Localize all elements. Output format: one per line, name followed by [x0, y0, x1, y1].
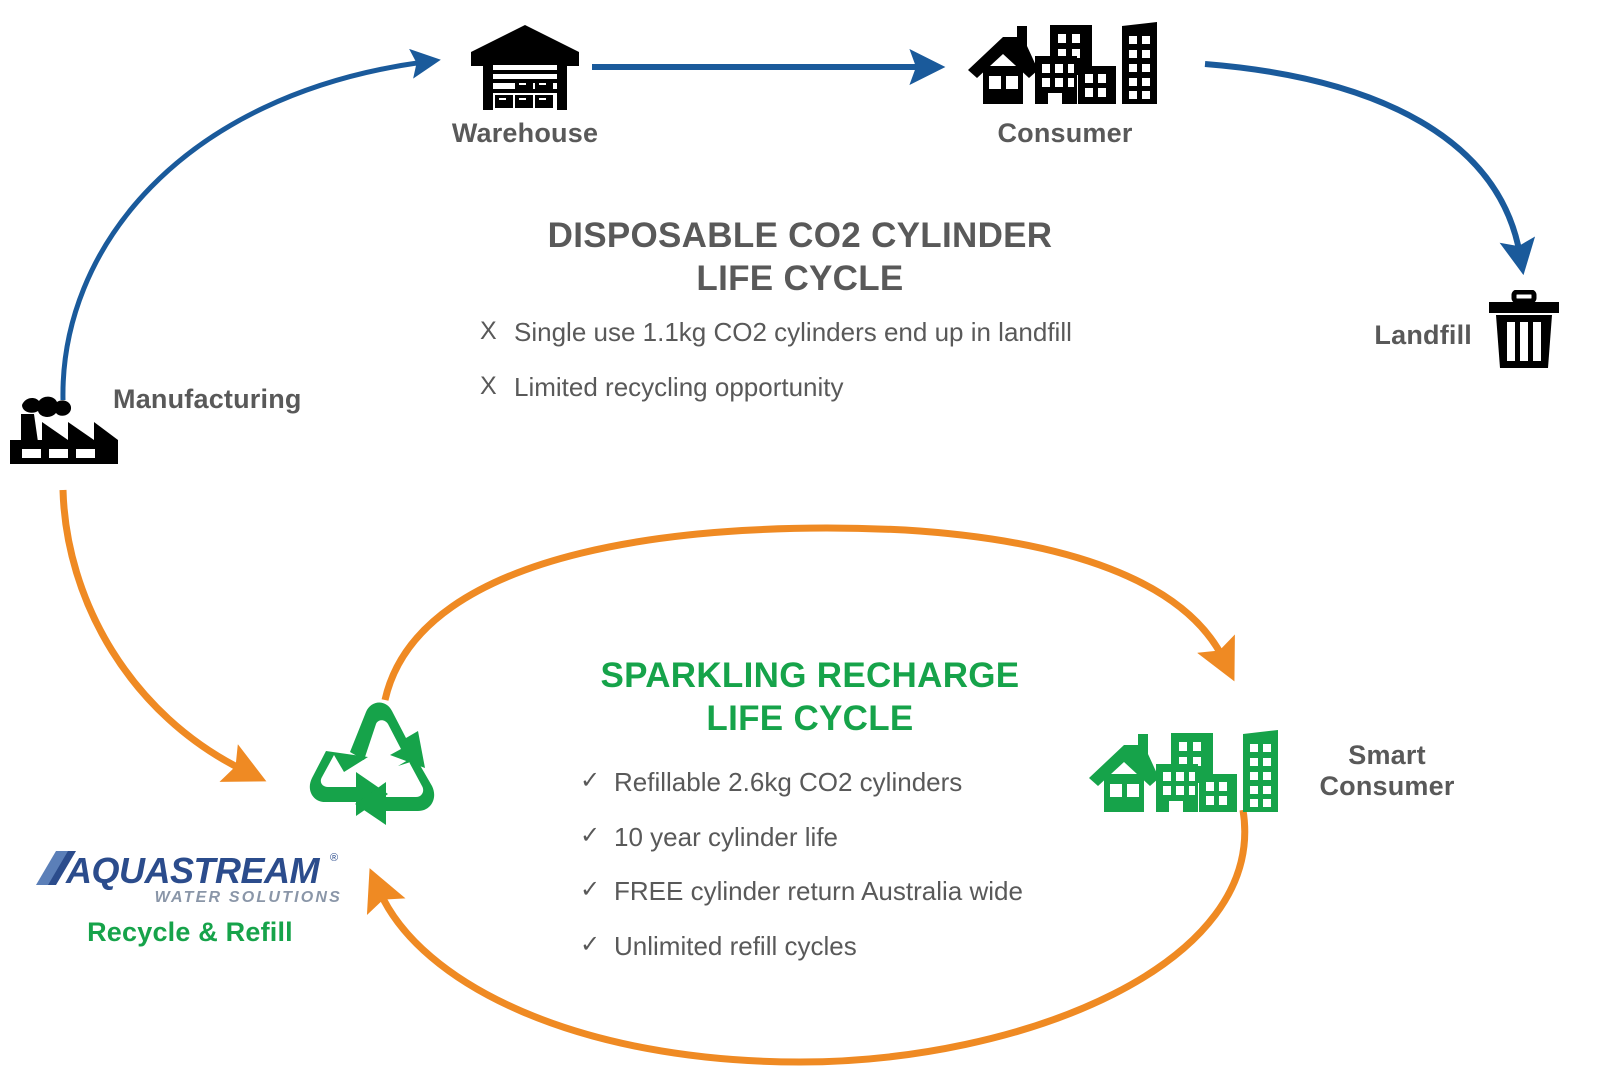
cross-icon: X: [480, 316, 514, 347]
infographic-canvas: Warehouse: [0, 0, 1599, 1079]
aquastream-tagline: WATER SOLUTIONS: [155, 889, 342, 906]
arrow-manufacturing-to-recycle: [63, 490, 245, 771]
recycle-icon: [298, 694, 458, 844]
sparkling-bullet: ✓ FREE cylinder return Australia wide: [580, 875, 1080, 908]
city-buildings-green-icon: [1086, 726, 1286, 821]
sparkling-bullet-text: Unlimited refill cycles: [614, 930, 857, 963]
node-consumer: Consumer: [965, 18, 1165, 118]
factory-icon: [8, 392, 118, 470]
sparkling-title-line1: SPARKLING RECHARGE: [540, 655, 1080, 698]
disposable-bullet-text: Single use 1.1kg CO2 cylinders end up in…: [514, 316, 1072, 349]
city-buildings-icon: [965, 18, 1165, 113]
sparkling-bullet-text: FREE cylinder return Australia wide: [614, 875, 1023, 908]
check-icon: ✓: [580, 821, 614, 851]
disposable-title-line2: LIFE CYCLE: [470, 258, 1130, 301]
landfill-label: Landfill: [1352, 320, 1472, 351]
aquastream-logo-icon: AQUASTREAM ® WATER SOLUTIONS: [30, 845, 350, 907]
disposable-life-cycle-block: DISPOSABLE CO2 CYLINDER LIFE CYCLE X Sin…: [470, 215, 1130, 425]
node-recycle: [298, 694, 458, 849]
check-icon: ✓: [580, 875, 614, 905]
check-icon: ✓: [580, 930, 614, 960]
sparkling-bullet: ✓ 10 year cylinder life: [580, 821, 1080, 854]
arrow-consumer-to-landfill: [1205, 64, 1520, 255]
smart-consumer-label-line2: Consumer: [1302, 771, 1472, 802]
smart-consumer-label-line1: Smart: [1302, 740, 1472, 771]
aquastream-wordmark: AQUASTREAM: [65, 850, 321, 891]
trash-can-icon: [1487, 290, 1561, 370]
disposable-title-line1: DISPOSABLE CO2 CYLINDER: [470, 215, 1130, 258]
node-landfill: Landfill: [1487, 290, 1561, 375]
sparkling-bullet: ✓ Refillable 2.6kg CO2 cylinders: [580, 766, 1080, 799]
sparkling-title-line2: LIFE CYCLE: [540, 698, 1080, 741]
recycle-refill-caption: Recycle & Refill: [30, 917, 350, 948]
sparkling-title: SPARKLING RECHARGE LIFE CYCLE: [540, 655, 1080, 740]
node-warehouse: Warehouse: [466, 22, 584, 119]
disposable-bullet: X Limited recycling opportunity: [480, 371, 1130, 404]
sparkling-bullet-text: Refillable 2.6kg CO2 cylinders: [614, 766, 962, 799]
arrow-manufacturing-to-warehouse: [63, 62, 424, 400]
disposable-bullet-text: Limited recycling opportunity: [514, 371, 844, 404]
disposable-title: DISPOSABLE CO2 CYLINDER LIFE CYCLE: [470, 215, 1130, 300]
sparkling-bullet: ✓ Unlimited refill cycles: [580, 930, 1080, 963]
consumer-label: Consumer: [965, 118, 1165, 149]
node-manufacturing: Manufacturing: [8, 392, 118, 475]
sparkling-life-cycle-block: SPARKLING RECHARGE LIFE CYCLE ✓ Refillab…: [540, 655, 1080, 984]
smart-consumer-label: Smart Consumer: [1302, 740, 1472, 803]
cross-icon: X: [480, 371, 514, 402]
check-icon: ✓: [580, 766, 614, 796]
registered-mark: ®: [330, 852, 338, 864]
disposable-bullets: X Single use 1.1kg CO2 cylinders end up …: [470, 316, 1130, 403]
sparkling-bullet-text: 10 year cylinder life: [614, 821, 838, 854]
warehouse-label: Warehouse: [448, 118, 602, 149]
disposable-bullet: X Single use 1.1kg CO2 cylinders end up …: [480, 316, 1130, 349]
manufacturing-label: Manufacturing: [113, 384, 302, 415]
warehouse-icon: [466, 22, 584, 114]
aquastream-logo-block: AQUASTREAM ® WATER SOLUTIONS Recycle & R…: [30, 845, 350, 948]
sparkling-bullets: ✓ Refillable 2.6kg CO2 cylinders ✓ 10 ye…: [540, 766, 1080, 962]
node-smart-consumer: Smart Consumer: [1086, 726, 1286, 826]
